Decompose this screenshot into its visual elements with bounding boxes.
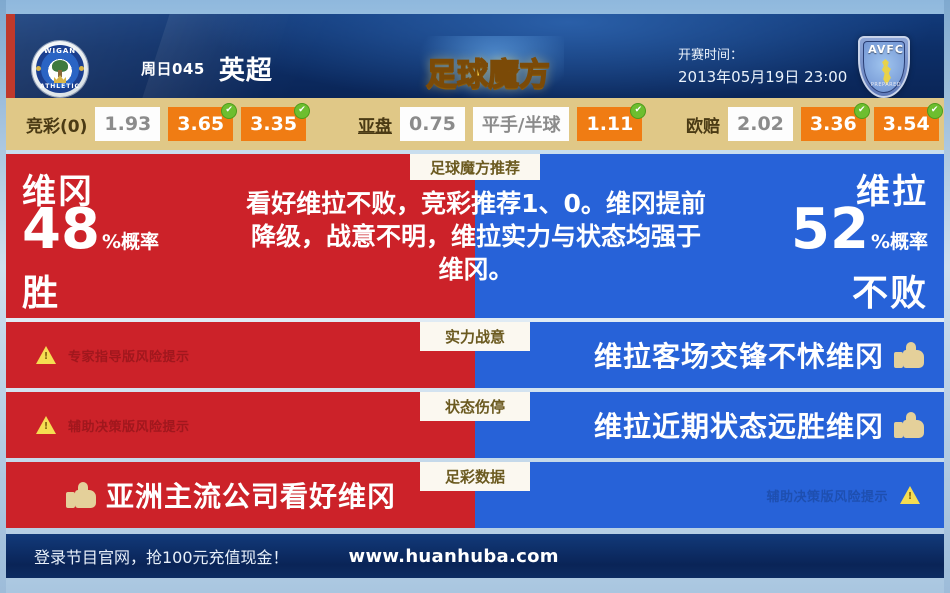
row2-right-panel: 状态伤停 维拉近期状态远胜维冈 — [475, 392, 944, 458]
row3-category-tab: 足彩数据 — [420, 462, 530, 491]
match-title: 周日045 英超 — [141, 50, 273, 87]
away-probability-unit: %概率 — [871, 231, 928, 253]
odds-group-label: 竞彩(0) — [26, 112, 87, 137]
footer-promo: 登录节目官网，抢100元充值现金！ — [34, 544, 289, 568]
kickoff-time: 2013年05月19日 23:00 — [678, 66, 847, 89]
odds-cell[interactable]: 平手/半球 — [473, 107, 570, 141]
insight-row-betting-data: 亚洲主流公司看好维冈 足彩数据 辅助决策版风险提示 — [6, 462, 944, 528]
league-name: 英超 — [219, 56, 273, 86]
footer-bar: 登录节目官网，抢100元充值现金！ www.huanhuba.com — [6, 534, 944, 578]
odds-value: 3.65 — [177, 113, 224, 135]
match-number: 周日045 — [141, 60, 205, 78]
thumbs-up-icon — [894, 412, 924, 438]
row1-right-panel: 实力战意 维拉客场交锋不怵维冈 — [475, 322, 944, 388]
odds-value: 3.54 — [883, 113, 930, 135]
row3-claim: 亚洲主流公司看好维冈 — [66, 462, 396, 528]
odds-check-icon: ✔ — [854, 103, 870, 119]
away-probability: 52%概率 — [791, 202, 928, 258]
odds-value: 3.36 — [810, 113, 857, 135]
odds-group-label: 亚盘 — [358, 112, 392, 137]
row3-risk-notice: 辅助决策版风险提示 — [766, 462, 920, 528]
kickoff-block: 开赛时间： 2013年05月19日 23:00 — [678, 46, 847, 89]
odds-cell[interactable]: 3.65✔ — [168, 107, 233, 141]
row2-claim: 维拉近期状态远胜维冈 — [594, 392, 924, 458]
odds-check-icon: ✔ — [630, 103, 646, 119]
home-probability-unit: %概率 — [102, 231, 159, 253]
thumbs-up-icon — [66, 482, 96, 508]
kickoff-label: 开赛时间： — [678, 46, 847, 66]
odds-cell[interactable]: 0.75 — [400, 107, 465, 141]
odds-cell[interactable]: 2.02 — [728, 107, 793, 141]
odds-value: 2.02 — [737, 113, 784, 135]
away-outcome: 不败 — [852, 264, 928, 316]
row2-risk-notice: 辅助决策版风险提示 — [36, 392, 190, 458]
odds-check-icon: ✔ — [927, 103, 943, 119]
right-rail — [944, 0, 950, 593]
away-crest-top-text: AVFC — [860, 43, 912, 56]
away-team-crest-icon: AVFC PREPARED — [858, 36, 910, 98]
row1-claim: 维拉客场交锋不怵维冈 — [594, 322, 924, 388]
odds-cell[interactable]: 3.36✔ — [801, 107, 866, 141]
insight-row-form: 辅助决策版风险提示 状态伤停 维拉近期状态远胜维冈 — [6, 392, 944, 458]
row3-right-panel: 足彩数据 辅助决策版风险提示 — [475, 462, 944, 528]
odds-group-label: 欧赔 — [686, 112, 720, 137]
home-probability: 48%概率 — [22, 202, 159, 258]
odds-check-icon: ✔ — [221, 103, 237, 119]
row3-claim-text: 亚洲主流公司看好维冈 — [106, 475, 396, 515]
row2-risk-text: 辅助决策版风险提示 — [68, 416, 190, 435]
odds-group-2: 亚盘0.75平手/半球1.11✔ — [358, 107, 642, 141]
home-outcome: 胜 — [22, 264, 60, 316]
row2-category-tab: 状态伤停 — [420, 392, 530, 421]
odds-cell[interactable]: 3.35✔ — [241, 107, 306, 141]
home-probability-value: 48 — [22, 197, 100, 262]
odds-value: 1.11 — [586, 113, 633, 135]
home-crest-top-text: WIGAN — [32, 47, 88, 55]
brand-logo-text: 足球魔方 — [426, 49, 550, 94]
home-team-crest-icon: WIGAN ATHLETIC — [32, 41, 88, 97]
warning-icon — [900, 486, 920, 504]
row1-risk-text: 专家指导版风险提示 — [68, 346, 190, 365]
odds-value: 平手/半球 — [482, 111, 561, 137]
away-crest-bottom-text: PREPARED — [860, 82, 912, 88]
odds-group-3: 欧赔2.023.36✔3.54✔ — [686, 107, 939, 141]
row2-claim-text: 维拉近期状态远胜维冈 — [594, 405, 884, 445]
odds-value: 1.93 — [104, 113, 151, 135]
row3-risk-text: 辅助决策版风险提示 — [766, 486, 888, 505]
home-crest-bottom-text: ATHLETIC — [32, 83, 88, 90]
warning-icon — [36, 416, 56, 434]
thumbs-up-icon — [894, 342, 924, 368]
row1-left-panel: 专家指导版风险提示 — [6, 322, 475, 388]
odds-cell[interactable]: 1.11✔ — [577, 107, 642, 141]
row2-left-panel: 辅助决策版风险提示 — [6, 392, 475, 458]
odds-value: 3.35 — [250, 113, 297, 135]
header-accent-stripe — [6, 14, 15, 98]
odds-group-1: 竞彩(0)1.933.65✔3.35✔ — [26, 107, 306, 141]
row1-claim-text: 维拉客场交锋不怵维冈 — [594, 335, 884, 375]
recommendation-text: 看好维拉不败，竞彩推荐1、0。维冈提前降级，战意不明，维拉实力与状态均强于维冈。 — [241, 187, 711, 286]
odds-value: 0.75 — [409, 113, 456, 135]
prediction-panel: 维冈 48%概率 胜 维拉 52%概率 不败 足球魔方推荐 看好维拉不败，竞彩推… — [6, 154, 944, 318]
row3-left-panel: 亚洲主流公司看好维冈 — [6, 462, 475, 528]
odds-bar: 竞彩(0)1.933.65✔3.35✔亚盘0.75平手/半球1.11✔欧赔2.0… — [6, 98, 944, 150]
footer-website[interactable]: www.huanhuba.com — [349, 546, 559, 567]
away-probability-value: 52 — [791, 197, 869, 262]
odds-cell[interactable]: 1.93 — [95, 107, 160, 141]
warning-icon — [36, 346, 56, 364]
row1-risk-notice: 专家指导版风险提示 — [36, 322, 190, 388]
odds-check-icon: ✔ — [294, 103, 310, 119]
broadcast-graphic: WIGAN ATHLETIC 周日045 英超 足球魔方 开赛时间： 2013年… — [0, 0, 950, 593]
row1-category-tab: 实力战意 — [420, 322, 530, 351]
insight-row-strength: 专家指导版风险提示 实力战意 维拉客场交锋不怵维冈 — [6, 322, 944, 388]
recommendation-tab: 足球魔方推荐 — [410, 154, 540, 180]
match-header: WIGAN ATHLETIC 周日045 英超 足球魔方 开赛时间： 2013年… — [6, 14, 944, 98]
odds-cell[interactable]: 3.54✔ — [874, 107, 939, 141]
brand-logo: 足球魔方 — [418, 44, 558, 98]
